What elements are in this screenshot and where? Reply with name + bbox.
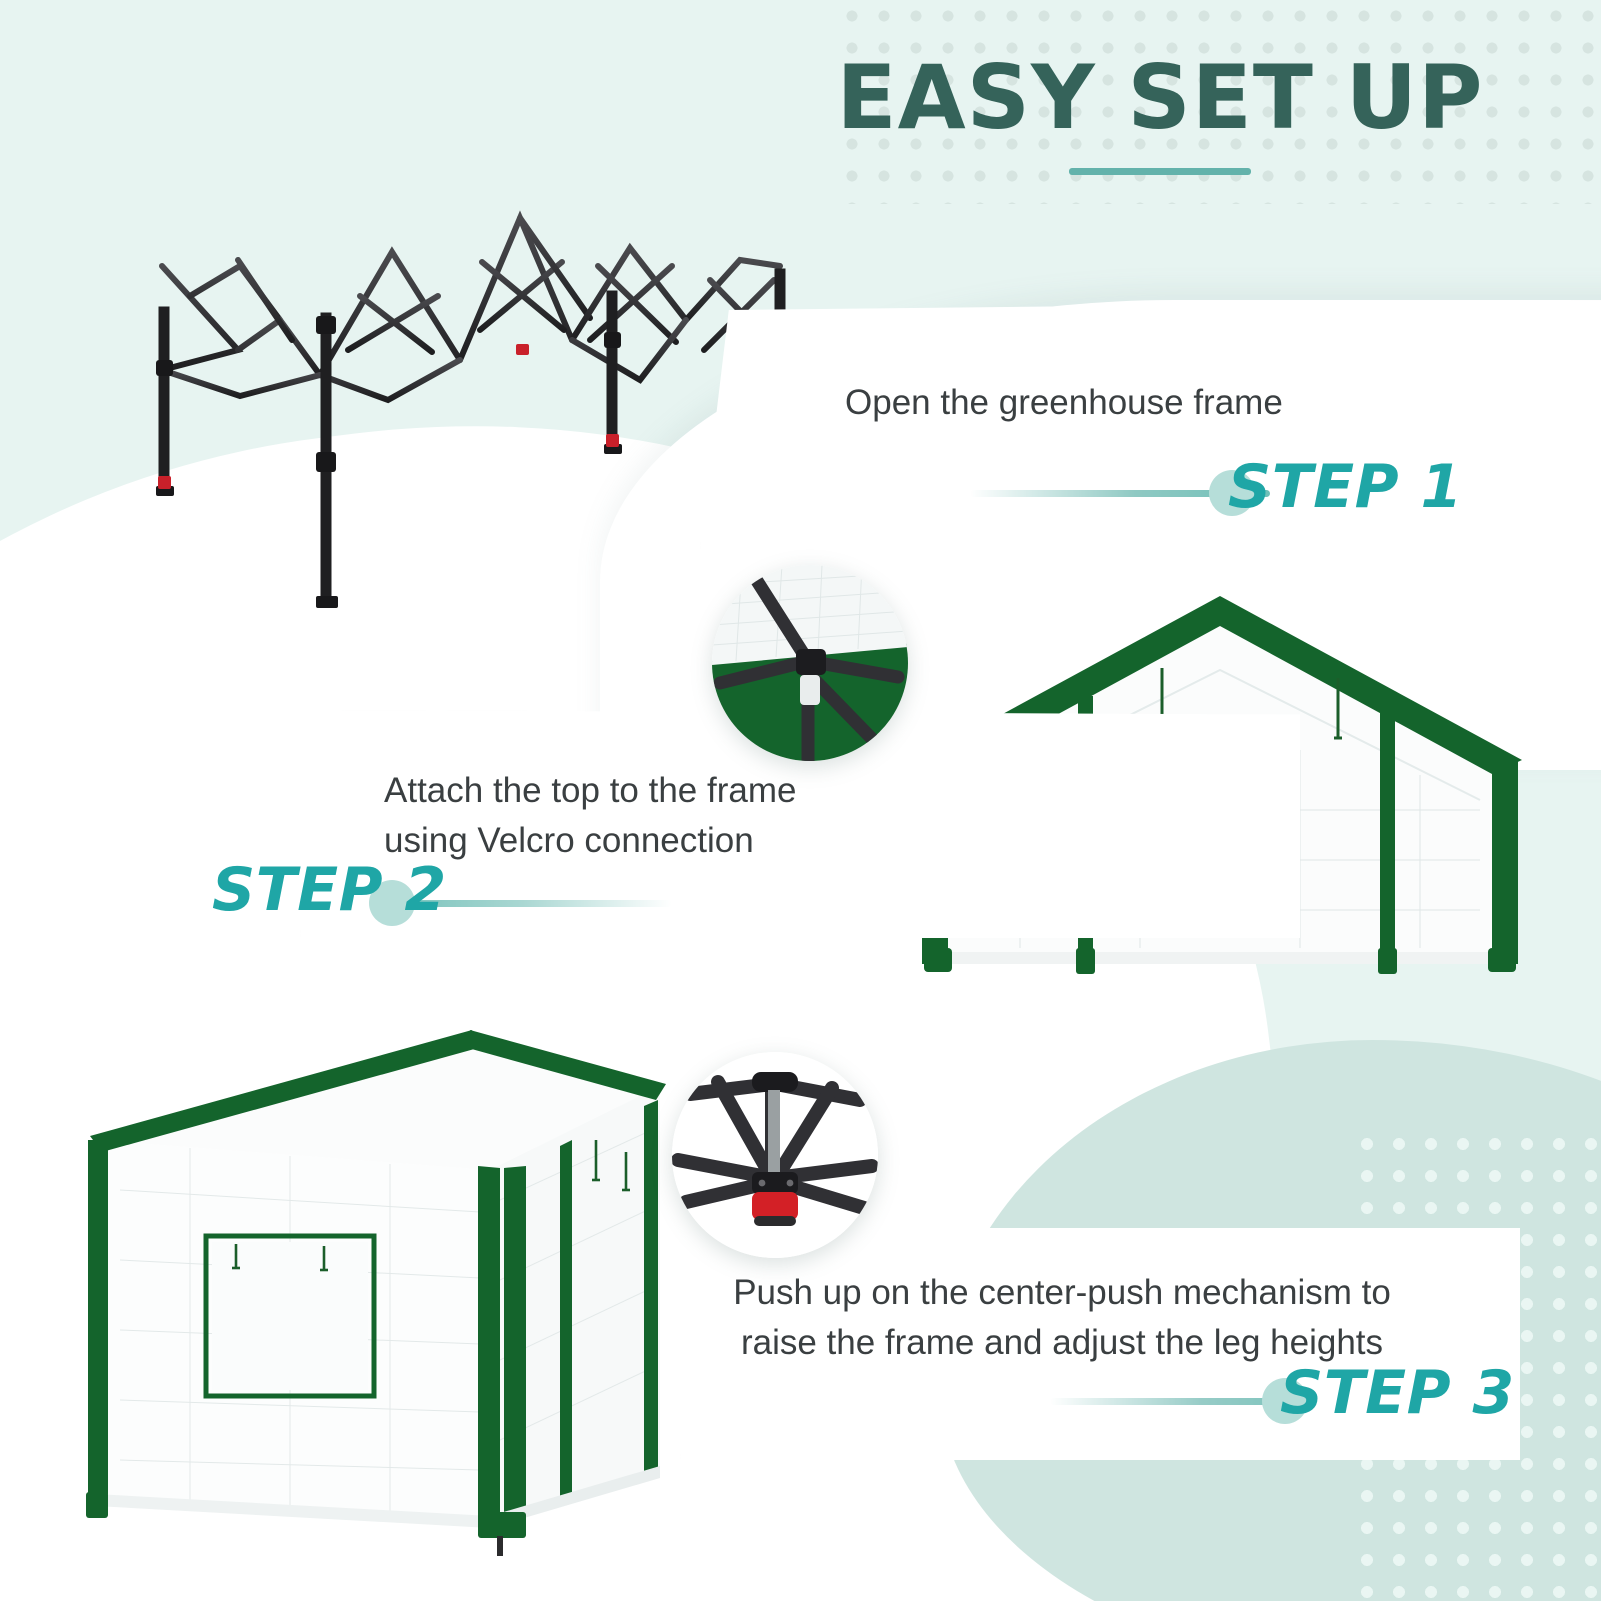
infographic-canvas: EASY SET UP bbox=[0, 0, 1601, 1601]
velcro-joint-detail-inset bbox=[712, 565, 908, 761]
title-underline bbox=[1069, 168, 1251, 175]
step-3-line-1: Push up on the center-push mechanism to bbox=[712, 1268, 1412, 1318]
page-title: EASY SET UP bbox=[760, 52, 1560, 144]
step-1-line-1: Open the greenhouse frame bbox=[845, 378, 1283, 428]
step-3-description: Push up on the center-push mechanism to … bbox=[712, 1268, 1412, 1367]
collapsible-canopy-frame-image bbox=[120, 200, 800, 630]
step-1-description: Open the greenhouse frame bbox=[845, 378, 1283, 428]
step-2-label: STEP 2 bbox=[212, 855, 447, 925]
step-2-line-1: Attach the top to the frame bbox=[384, 766, 796, 816]
greenhouse-iso-view-image bbox=[60, 1000, 700, 1560]
step-2-description: Attach the top to the frame using Velcro… bbox=[384, 766, 796, 865]
header: EASY SET UP bbox=[760, 52, 1560, 175]
step-1-label: STEP 1 bbox=[1228, 452, 1463, 522]
step-3-label: STEP 3 bbox=[1280, 1358, 1515, 1428]
center-push-mechanism-detail-inset bbox=[672, 1052, 878, 1258]
